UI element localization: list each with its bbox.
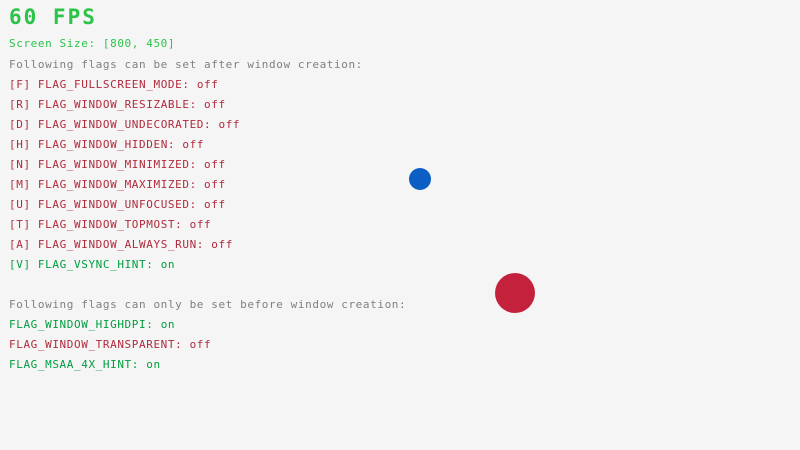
flag-row[interactable]: [F] FLAG_FULLSCREEN_MODE: off — [9, 79, 429, 99]
app-window: 60 FPS Screen Size: [800, 450] Following… — [0, 0, 800, 450]
flag-value: on — [161, 258, 175, 271]
flag-list-before-creation: FLAG_WINDOW_HIGHDPI: onFLAG_WINDOW_TRANS… — [9, 319, 429, 379]
flag-row[interactable]: [N] FLAG_WINDOW_MINIMIZED: off — [9, 159, 429, 179]
ball-red-circle — [495, 273, 535, 313]
flag-value: off — [204, 198, 226, 211]
flag-label: FLAG_WINDOW_RESIZABLE: — [38, 98, 197, 111]
flag-row: FLAG_WINDOW_HIGHDPI: on — [9, 319, 429, 339]
flag-hotkey: [N] — [9, 158, 31, 171]
flag-hotkey: [U] — [9, 198, 31, 211]
screen-size-label: Screen Size: [800, 450] — [9, 38, 175, 49]
flag-hotkey: [M] — [9, 178, 31, 191]
flag-value: on — [161, 318, 175, 331]
flag-label: FLAG_WINDOW_TRANSPARENT: — [9, 338, 182, 351]
flag-row[interactable]: [R] FLAG_WINDOW_RESIZABLE: off — [9, 99, 429, 119]
flag-hotkey: [T] — [9, 218, 31, 231]
flag-list-after-creation: [F] FLAG_FULLSCREEN_MODE: off[R] FLAG_WI… — [9, 79, 429, 279]
flag-value: off — [190, 338, 212, 351]
flag-label: FLAG_WINDOW_UNFOCUSED: — [38, 198, 197, 211]
fps-counter: 60 FPS — [9, 7, 97, 28]
flag-row[interactable]: [M] FLAG_WINDOW_MAXIMIZED: off — [9, 179, 429, 199]
flag-row[interactable]: [V] FLAG_VSYNC_HINT: on — [9, 259, 429, 279]
flag-hotkey: [D] — [9, 118, 31, 131]
flag-label: FLAG_MSAA_4X_HINT: — [9, 358, 139, 371]
flag-row[interactable]: [D] FLAG_WINDOW_UNDECORATED: off — [9, 119, 429, 139]
flag-label: FLAG_WINDOW_UNDECORATED: — [38, 118, 211, 131]
flag-hotkey: [V] — [9, 258, 31, 271]
flag-value: off — [204, 98, 226, 111]
flag-label: FLAG_WINDOW_HIGHDPI: — [9, 318, 153, 331]
flag-value: on — [146, 358, 160, 371]
flag-row[interactable]: [T] FLAG_WINDOW_TOPMOST: off — [9, 219, 429, 239]
flag-label: FLAG_WINDOW_HIDDEN: — [38, 138, 175, 151]
ball-blue-circle — [409, 168, 431, 190]
flag-label: FLAG_WINDOW_ALWAYS_RUN: — [38, 238, 204, 251]
flag-row: FLAG_WINDOW_TRANSPARENT: off — [9, 339, 429, 359]
flag-hotkey: [H] — [9, 138, 31, 151]
flag-label: FLAG_WINDOW_MINIMIZED: — [38, 158, 197, 171]
flag-label: FLAG_WINDOW_TOPMOST: — [38, 218, 182, 231]
flag-hotkey: [A] — [9, 238, 31, 251]
flag-row[interactable]: [U] FLAG_WINDOW_UNFOCUSED: off — [9, 199, 429, 219]
flag-label: FLAG_VSYNC_HINT: — [38, 258, 154, 271]
flag-label: FLAG_WINDOW_MAXIMIZED: — [38, 178, 197, 191]
flag-row[interactable]: [H] FLAG_WINDOW_HIDDEN: off — [9, 139, 429, 159]
flag-value: off — [211, 238, 233, 251]
section-heading-after-creation: Following flags can be set after window … — [9, 59, 363, 70]
flag-value: off — [182, 138, 204, 151]
flag-row: FLAG_MSAA_4X_HINT: on — [9, 359, 429, 379]
flag-value: off — [197, 78, 219, 91]
section-heading-before-creation: Following flags can only be set before w… — [9, 299, 406, 310]
flag-value: off — [190, 218, 212, 231]
flag-value: off — [204, 178, 226, 191]
flag-hotkey: [F] — [9, 78, 31, 91]
flag-hotkey: [R] — [9, 98, 31, 111]
flag-value: off — [204, 158, 226, 171]
flag-row[interactable]: [A] FLAG_WINDOW_ALWAYS_RUN: off — [9, 239, 429, 259]
flag-value: off — [218, 118, 240, 131]
flag-label: FLAG_FULLSCREEN_MODE: — [38, 78, 190, 91]
